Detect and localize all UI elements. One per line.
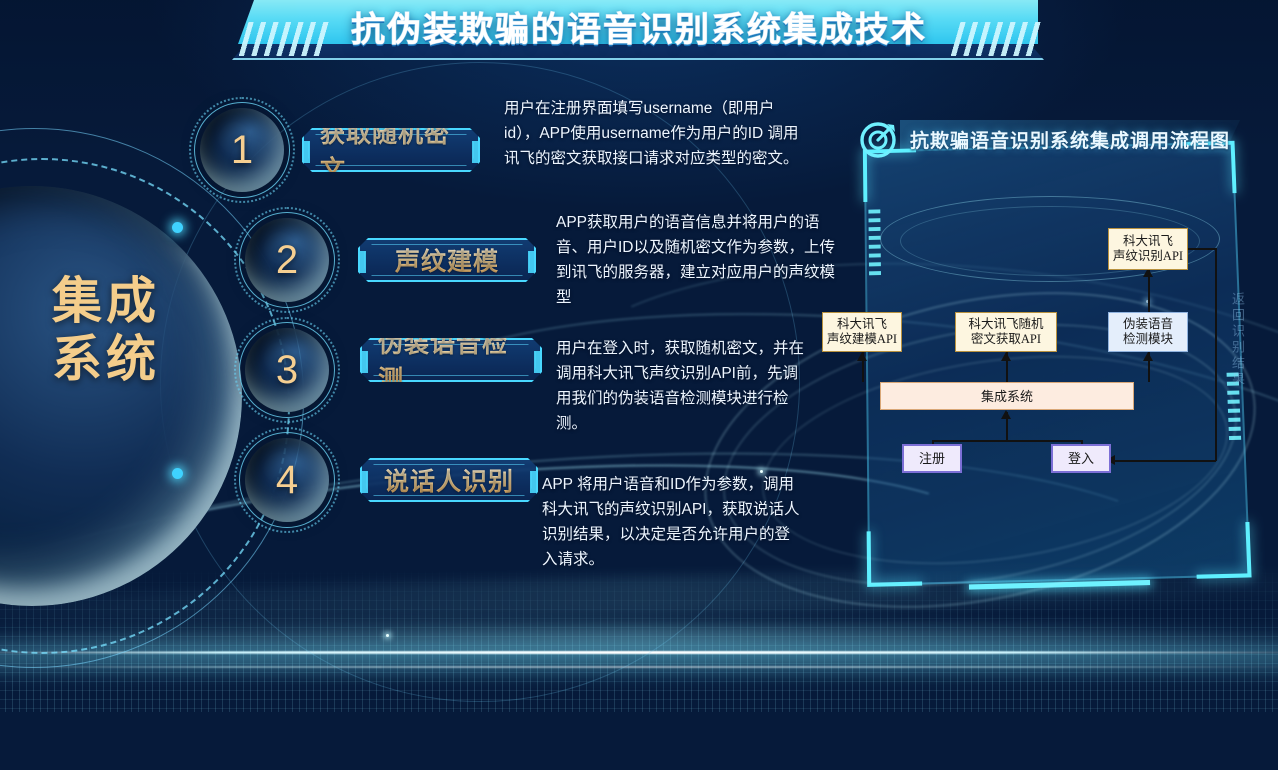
diagram-header: 抗欺骗语音识别系统集成调用流程图 — [858, 118, 1230, 160]
node-register[interactable]: 注册 — [902, 444, 962, 473]
step-number-ball: 2 — [245, 218, 329, 302]
node-integration-system[interactable]: 集成系统 — [880, 382, 1134, 410]
chip-tab-left-icon — [303, 141, 310, 163]
node-line-2: 检测模块 — [1123, 332, 1173, 347]
node-voiceprint-recognition-api[interactable]: 科大讯飞 声纹识别API — [1108, 228, 1188, 270]
target-icon — [858, 118, 900, 160]
chip-tab-left-icon — [361, 351, 368, 373]
step-number: 3 — [245, 328, 329, 412]
connector-arrow — [1001, 410, 1011, 419]
connector-arrow — [1001, 352, 1011, 361]
node-disguise-detection-module[interactable]: 伪装语音 检测模块 — [1108, 312, 1188, 352]
step-2-chip[interactable]: 声纹建模 — [358, 238, 536, 282]
title-banner: 抗伪装欺骗的语音识别系统集成技术 — [0, 0, 1278, 66]
connector-line — [1186, 248, 1216, 250]
step-number-ball: 1 — [200, 108, 284, 192]
chip-tab-left-icon — [359, 251, 366, 273]
orbit-node-dot — [172, 222, 183, 233]
node-label: 集成系统 — [981, 389, 1033, 404]
diagram-title: 抗欺骗语音识别系统集成调用流程图 — [910, 126, 1230, 153]
step-2-label: 声纹建模 — [395, 242, 499, 278]
chip-tab-right-icon — [472, 141, 479, 163]
step-3-chip[interactable]: 伪装语音检测 — [360, 338, 542, 382]
node-line-1: 科大讯飞 — [827, 317, 897, 332]
connector-line — [932, 440, 1082, 442]
step-4-chip[interactable]: 说话人识别 — [360, 458, 538, 502]
step-number: 1 — [200, 108, 284, 192]
chip-tab-left-icon — [361, 471, 368, 493]
node-login[interactable]: 登入 — [1051, 444, 1111, 473]
sphere-label-line2: 系统 — [22, 330, 190, 388]
node-random-cipher-api[interactable]: 科大讯飞随机 密文获取API — [955, 312, 1057, 352]
horizon-line — [0, 666, 1278, 668]
node-line-2: 密文获取API — [968, 332, 1043, 347]
return-result-label: 返回识别结果 — [1228, 292, 1247, 388]
connector-line — [1110, 460, 1216, 462]
connector-line — [1215, 248, 1217, 461]
step-4-label: 说话人识别 — [384, 462, 514, 498]
node-line-1: 伪装语音 — [1123, 317, 1173, 332]
node-voiceprint-modeling-api[interactable]: 科大讯飞 声纹建模API — [822, 312, 902, 352]
chip-tab-right-icon — [534, 351, 541, 373]
chip-tab-right-icon — [530, 471, 537, 493]
node-line-1: 科大讯飞 — [1113, 234, 1183, 249]
frame-corner-icon — [1195, 522, 1252, 579]
orbit-node-dot — [172, 468, 183, 479]
step-number-ball: 4 — [245, 438, 329, 522]
frame-hatch-icon — [868, 206, 881, 275]
node-line-2: 声纹建模API — [827, 332, 897, 347]
step-number: 4 — [245, 438, 329, 522]
node-line-1: 科大讯飞随机 — [968, 317, 1043, 332]
sphere-label-line1: 集成 — [22, 272, 190, 330]
sphere-label: 集成 系统 — [22, 272, 190, 388]
node-label: 登入 — [1068, 451, 1094, 466]
step-2-description: APP获取用户的语音信息并将用户的语音、用户ID以及随机密文作为参数，上传到讯飞… — [556, 210, 846, 310]
step-1-description: 用户在注册界面填写username（即用户id），APP使用username作为… — [504, 96, 804, 171]
step-1-chip[interactable]: 获取随机密文 — [302, 128, 480, 172]
page-title: 抗伪装欺骗的语音识别系统集成技术 — [0, 2, 1278, 51]
step-number-ball: 3 — [245, 328, 329, 412]
node-line-2: 声纹识别API — [1113, 249, 1183, 264]
step-number: 2 — [245, 218, 329, 302]
connector-arrow — [857, 352, 867, 361]
node-label: 注册 — [919, 451, 945, 466]
chip-tab-right-icon — [528, 251, 535, 273]
connector-arrow — [1143, 352, 1153, 361]
